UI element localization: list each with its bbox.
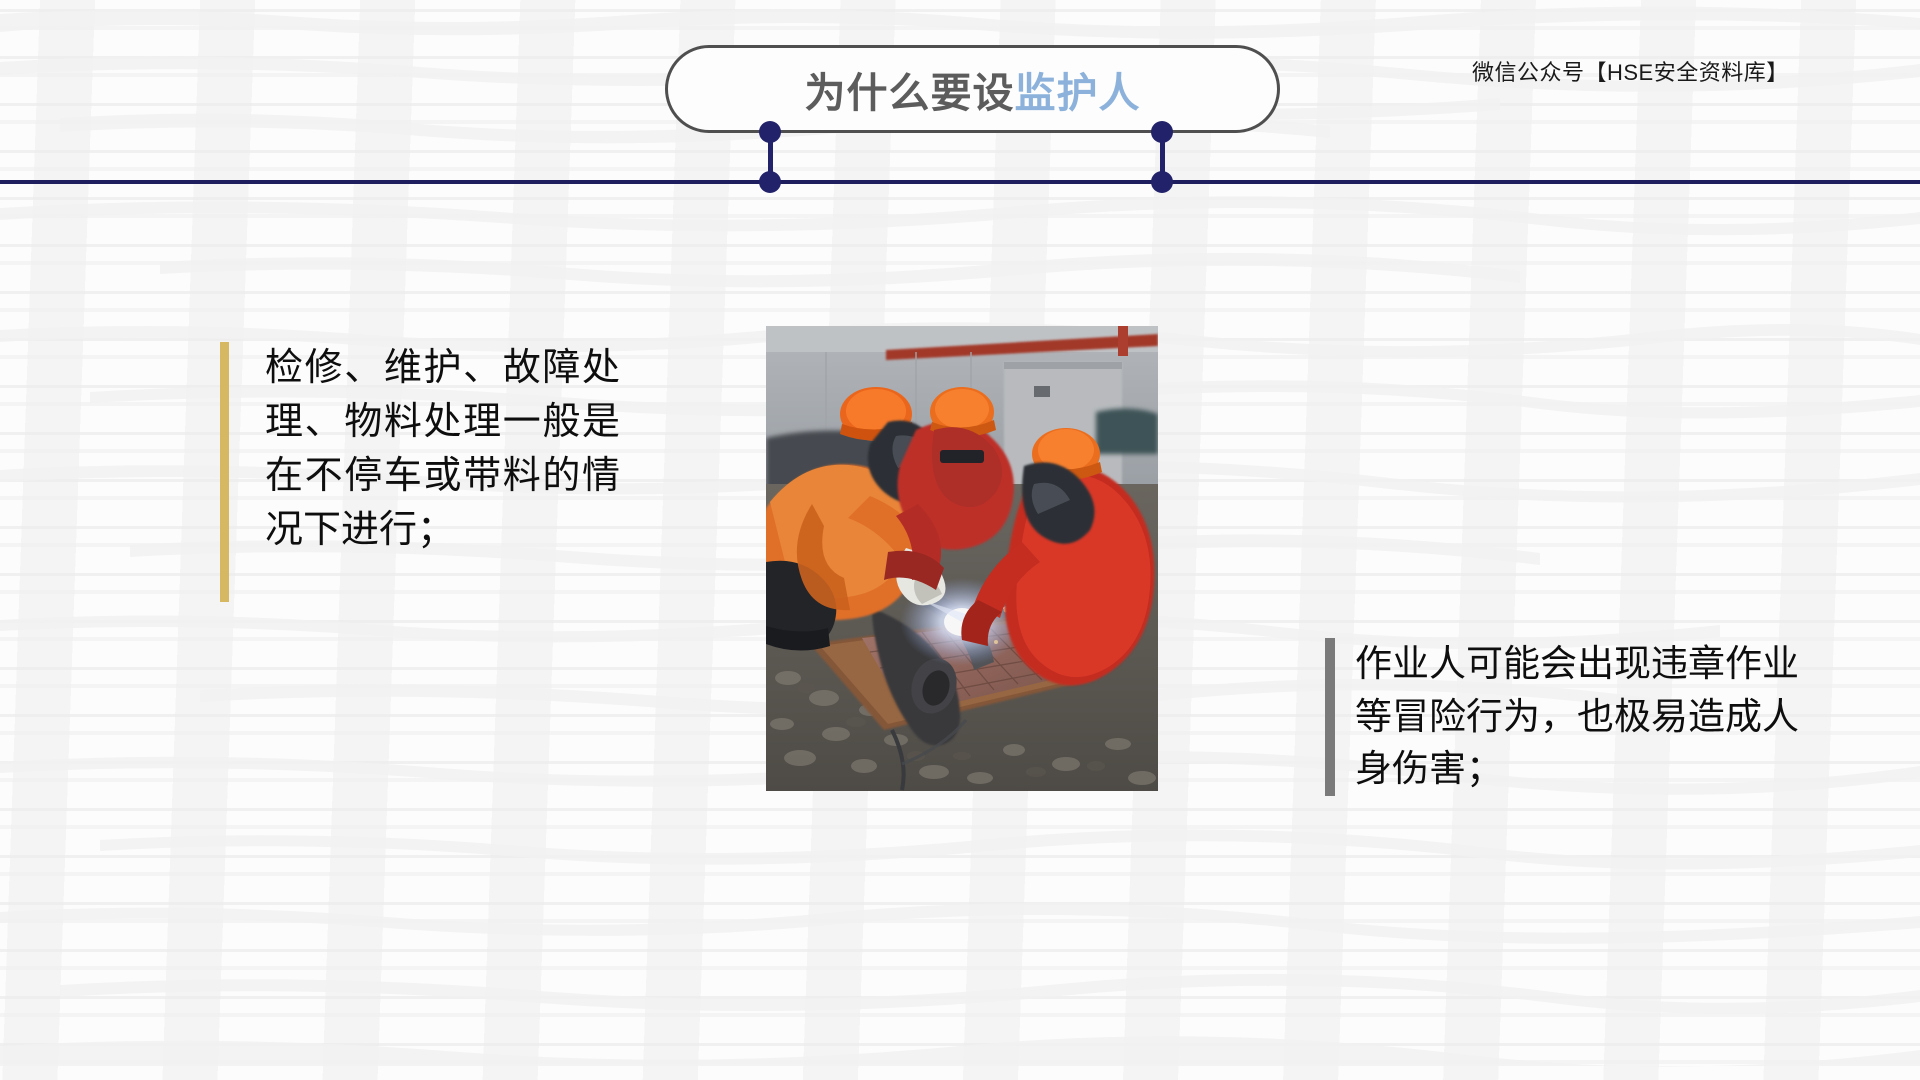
connector-dot-top-left <box>759 121 781 143</box>
connector-dot-bottom-left <box>759 171 781 193</box>
title-text-highlight: 监护人 <box>1015 70 1141 116</box>
left-body-text: 检修、维护、故障处理、物料处理一般是在不停车或带料的情况下进行； <box>265 342 620 558</box>
connector-dot-top-right <box>1151 121 1173 143</box>
right-text-block: 作业人可能会出现违章作业等冒险行为，也极易造成人身伤害； <box>1325 638 1845 796</box>
slide-canvas: 为什么要设监护人 微信公众号【HSE安全资料库】 检修、维护、故障处理、物料处理… <box>0 0 1920 1080</box>
welding-work-photo-illustration <box>766 326 1158 791</box>
right-body-text: 作业人可能会出现违章作业等冒险行为，也极易造成人身伤害； <box>1355 638 1827 796</box>
header-divider-rule <box>0 180 1920 184</box>
left-text-block: 检修、维护、故障处理、物料处理一般是在不停车或带料的情况下进行； <box>220 342 620 558</box>
right-accent-bar <box>1325 638 1335 796</box>
welding-work-photo <box>766 326 1158 791</box>
page-title: 为什么要设监护人 <box>805 59 1141 119</box>
left-accent-bar <box>220 342 229 602</box>
slide-title-pill: 为什么要设监护人 <box>665 45 1280 133</box>
watermark-label: 微信公众号【HSE安全资料库】 <box>1472 55 1789 87</box>
connector-dot-bottom-right <box>1151 171 1173 193</box>
title-text-plain: 为什么要设 <box>805 70 1015 116</box>
